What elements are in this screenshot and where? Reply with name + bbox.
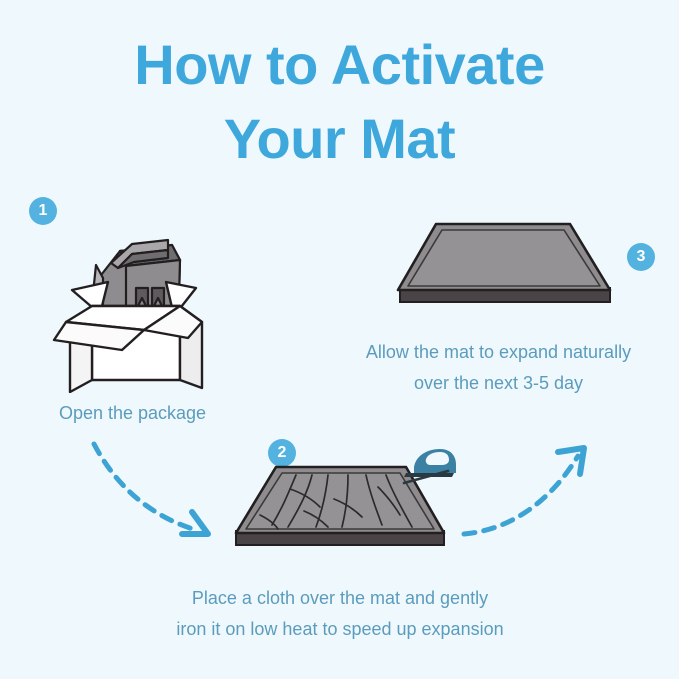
arrow-step2-to-step3 xyxy=(458,438,598,548)
iron-icon xyxy=(398,443,460,491)
infographic-canvas: How to Activate Your Mat 1 xyxy=(0,0,679,679)
step-2-caption-line-2: iron it on low heat to speed up expansio… xyxy=(100,614,580,645)
step-2-caption: Place a cloth over the mat and gently ir… xyxy=(100,583,580,645)
step-3-caption-line-2: over the next 3-5 day xyxy=(318,368,679,399)
title-line-1: How to Activate xyxy=(0,28,679,102)
open-box-illustration xyxy=(48,218,223,393)
arrow-step1-to-step2 xyxy=(88,438,228,548)
flat-mat-illustration xyxy=(390,214,620,319)
folded-mat-in-box xyxy=(94,240,180,310)
step-badge-3: 3 xyxy=(627,243,655,271)
page-title: How to Activate Your Mat xyxy=(0,28,679,176)
step-1-caption: Open the package xyxy=(0,398,265,429)
step-3-caption: Allow the mat to expand naturally over t… xyxy=(318,337,679,399)
step-2-caption-line-1: Place a cloth over the mat and gently xyxy=(100,583,580,614)
title-line-2: Your Mat xyxy=(0,102,679,176)
step-3-caption-line-1: Allow the mat to expand naturally xyxy=(318,337,679,368)
